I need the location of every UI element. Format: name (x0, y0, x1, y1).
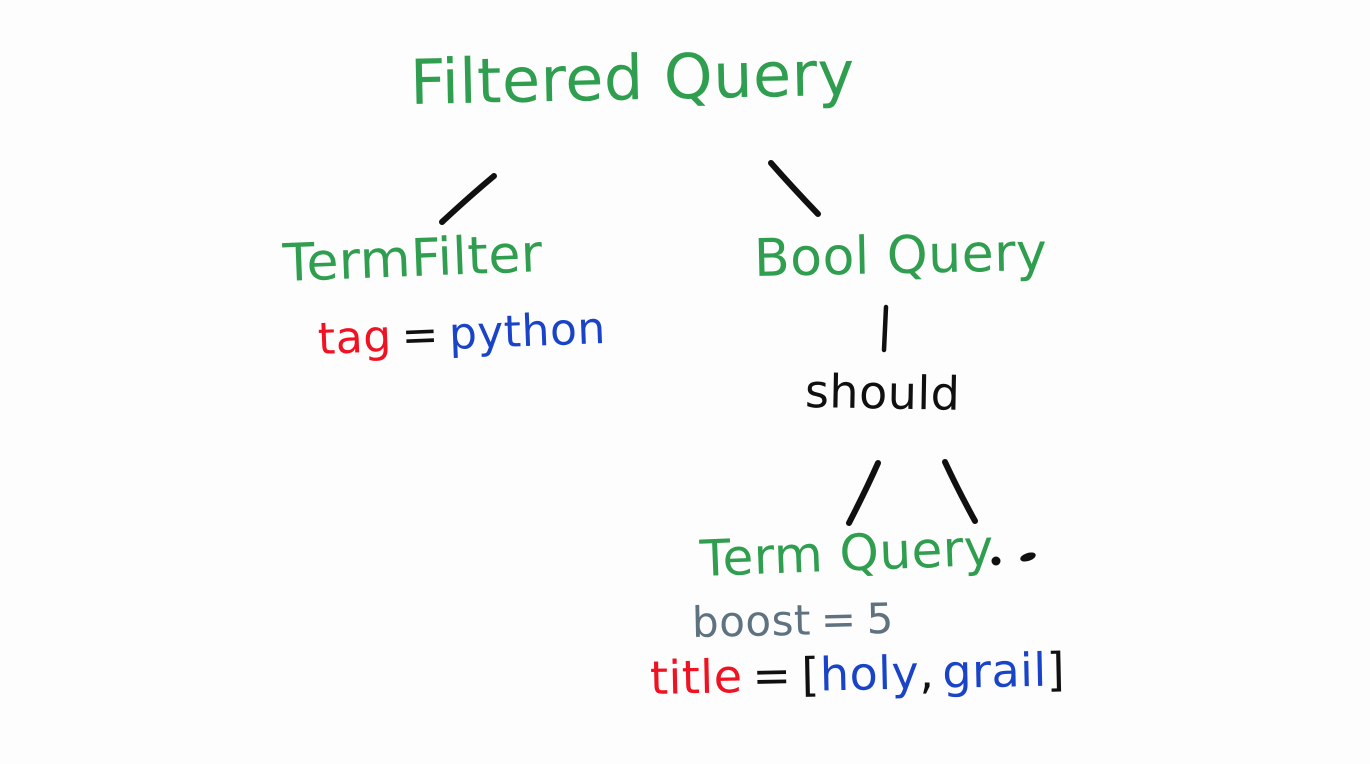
term-query-boost-equals: = (810, 594, 867, 644)
bracket-close: ] (1046, 642, 1066, 696)
term-query-equals: = (742, 648, 802, 703)
edge-root-to-bool-query (771, 163, 818, 214)
term-query-boost-key: boost (691, 596, 811, 647)
node-term-filter-label: TermFilter (282, 228, 544, 290)
term-query-boost-row: boost=5 (692, 598, 895, 644)
term-filter-field: tag (317, 311, 393, 365)
edge-bool-query-to-should (884, 307, 886, 350)
term-query-value-2: grail (942, 643, 1047, 699)
term-filter-value: python (448, 303, 607, 360)
term-query-field: title (649, 649, 743, 705)
edge-should-to-term-query (849, 463, 878, 523)
term-query-value-separator: , (919, 645, 943, 699)
edge-should-to-ellipsis (945, 462, 975, 521)
term-query-boost-value: 5 (866, 594, 894, 644)
node-term-query-label: Term Query (699, 523, 995, 584)
ellipsis-dot-2 (1019, 551, 1037, 564)
term-query-title-row: title=[holy,grail] (650, 646, 1066, 701)
term-query-value-1: holy (819, 645, 919, 701)
bool-query-clause-should: should (805, 368, 961, 417)
term-filter-equals: = (391, 309, 450, 362)
node-bool-query-label: Bool Query (753, 227, 1047, 285)
node-filtered-query-label: Filtered Query (409, 43, 855, 114)
bracket-open: [ (801, 647, 821, 701)
diagram-canvas: Filtered Query TermFilter tag=python Boo… (0, 0, 1370, 764)
edge-root-to-term-filter (442, 176, 494, 222)
term-filter-attribute-row: tag=python (317, 307, 606, 362)
